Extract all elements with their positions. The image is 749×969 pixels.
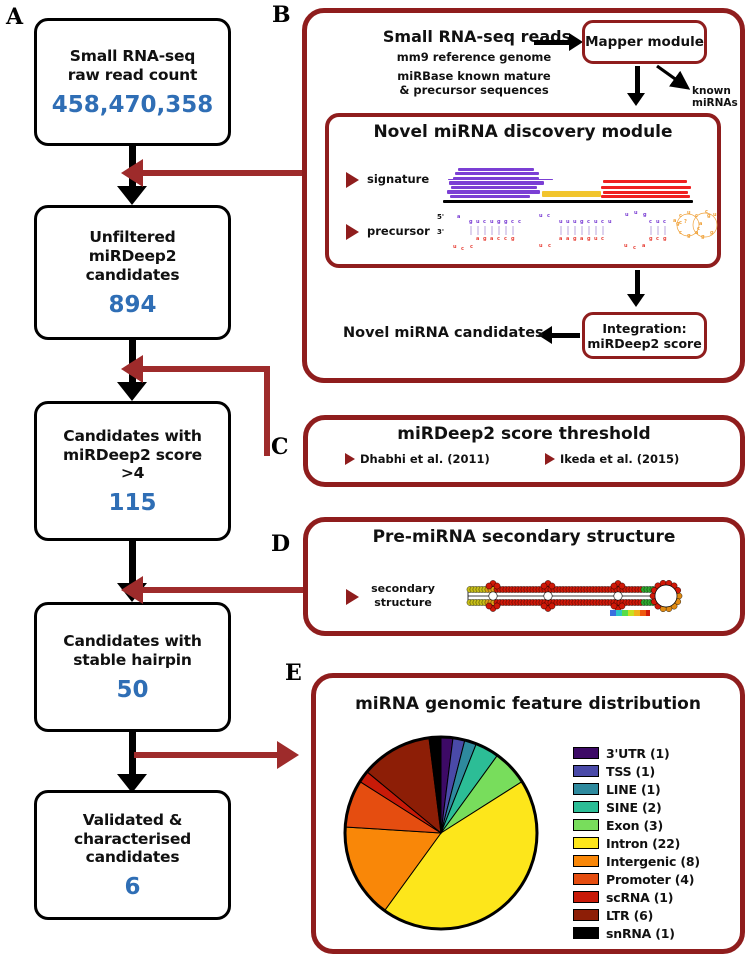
- svg-text:g: g: [511, 236, 515, 242]
- svg-text:c: c: [633, 245, 636, 251]
- structure-nucleotide: [619, 603, 625, 609]
- legend-label: Intron (22): [606, 836, 680, 851]
- panel-c-ref-2-label: Ikeda et al. (2015): [560, 452, 679, 466]
- structure-nucleotide: [611, 603, 617, 609]
- svg-text:c: c: [663, 219, 666, 225]
- svg-text:g: g: [573, 236, 577, 242]
- svg-text:g: g: [483, 236, 487, 242]
- connector-b-to-flow-arrow: [121, 159, 143, 187]
- legend-item: scRNA (1): [573, 889, 700, 905]
- panel-label-d: D: [271, 533, 290, 555]
- ref-bullet-triangle-icon: [545, 453, 555, 465]
- panel-c-ref-1-label: Dhabhi et al. (2011): [360, 452, 490, 466]
- flow-step-title: Candidates with stable hairpin: [63, 632, 201, 670]
- legend-swatch: [573, 837, 599, 849]
- structure-terminal-loop: [655, 585, 677, 607]
- flow-connector-arrow-2: [117, 382, 147, 401]
- structure-loop-center: [489, 592, 497, 600]
- svg-text:u: u: [687, 210, 691, 216]
- svg-text:c: c: [461, 246, 464, 252]
- connector-c-to-flow-arrow: [121, 355, 143, 383]
- structure-nucleotide: [494, 583, 500, 589]
- legend-swatch: [573, 891, 599, 903]
- flow-step-box-4: Candidates with stable hairpin 50: [34, 602, 231, 732]
- flow-step-count: 6: [124, 876, 140, 899]
- svg-text:u: u: [490, 219, 494, 225]
- chart-legend: 3'UTR (1)TSS (1)LINE (1)SINE (2)Exon (3)…: [573, 745, 700, 943]
- panel-c-title: miRDeep2 score threshold: [303, 424, 745, 444]
- svg-text:u: u: [594, 236, 598, 242]
- structure-nucleotide: [486, 583, 492, 589]
- svg-text:a: a: [476, 236, 479, 242]
- legend-swatch: [573, 783, 599, 795]
- svg-text:u: u: [624, 243, 628, 249]
- svg-text:?: ?: [684, 219, 687, 225]
- legend-item: LTR (6): [573, 907, 700, 923]
- legend-swatch: [573, 801, 599, 813]
- legend-swatch: [573, 909, 599, 921]
- known-mirnas-line1: known: [692, 85, 738, 97]
- svg-text:c: c: [504, 236, 507, 242]
- precursor-bullet-triangle-icon: [346, 224, 359, 240]
- panel-b-discovery-down-head: [627, 294, 645, 307]
- chart-title: miRNA genomic feature distribution: [311, 694, 745, 714]
- secondary-structure-bullet-triangle-icon: [346, 589, 359, 605]
- structure-nucleotide: [541, 583, 547, 589]
- panel-b-input-line1: mm9 reference genome: [350, 50, 598, 64]
- connector-flow-to-e-arrow: [277, 741, 299, 769]
- legend-swatch: [573, 747, 599, 759]
- flow-step-title: Validated & characterised candidates: [74, 811, 191, 868]
- legend-label: Promoter (4): [606, 872, 694, 887]
- flow-step-count: 115: [108, 492, 156, 515]
- integration-line1: Integration:: [602, 321, 686, 336]
- svg-text:a: a: [673, 218, 676, 224]
- svg-text:u: u: [625, 212, 629, 218]
- legend-item: TSS (1): [573, 763, 700, 779]
- structure-nucleotide: [541, 603, 547, 609]
- panel-c-ref-2: Ikeda et al. (2015): [545, 452, 679, 466]
- legend-item: Intron (22): [573, 835, 700, 851]
- integration-line2: miRDeep2 score: [587, 336, 701, 351]
- svg-text:g: g: [580, 219, 584, 225]
- svg-text:c: c: [587, 219, 590, 225]
- structure-nucleotide: [611, 583, 617, 589]
- flow-step-box-1: Small RNA-seq raw read count 458,470,358: [34, 18, 231, 146]
- svg-text:c: c: [518, 219, 521, 225]
- integration-box: Integration: miRDeep2 score: [582, 312, 707, 359]
- connector-c-to-flow-line: [143, 366, 270, 372]
- legend-item: Promoter (4): [573, 871, 700, 887]
- panel-b-input-line2: miRBase known mature: [350, 69, 598, 83]
- legend-item: Exon (3): [573, 817, 700, 833]
- svg-text:u: u: [634, 210, 638, 216]
- svg-text:c: c: [548, 243, 551, 249]
- connector-b-to-flow-line: [143, 170, 308, 176]
- svg-text:c: c: [601, 219, 604, 225]
- flow-step-title: Candidates with miRDeep2 score >4: [63, 427, 202, 484]
- svg-text:c: c: [547, 213, 550, 219]
- legend-swatch: [573, 819, 599, 831]
- legend-swatch: [573, 855, 599, 867]
- panel-d-item-line2: structure: [367, 596, 439, 610]
- svg-text:a: a: [457, 214, 460, 220]
- svg-text:c: c: [656, 236, 659, 242]
- flow-step-title: Small RNA-seq raw read count: [68, 47, 197, 85]
- connector-flow-to-e-line: [134, 752, 289, 758]
- discovery-module-title: Novel miRNA discovery module: [325, 122, 721, 142]
- mapper-module-box: Mapper module: [582, 20, 707, 64]
- flow-step-count: 894: [108, 294, 156, 317]
- structure-nucleotide: [549, 603, 555, 609]
- svg-text:u: u: [559, 219, 563, 225]
- flow-connector-arrow-1: [117, 186, 147, 205]
- secondary-structure-graphic: [460, 575, 710, 617]
- structure-nucleotide: [549, 583, 555, 589]
- legend-label: LINE (1): [606, 782, 661, 797]
- legend-item: snRNA (1): [573, 925, 700, 941]
- panel-b-mapper-down-head: [627, 93, 645, 106]
- legend-swatch: [573, 927, 599, 939]
- legend-label: LTR (6): [606, 908, 653, 923]
- svg-text:g: g: [469, 219, 473, 225]
- panel-d-item-line1: secondary: [367, 582, 439, 596]
- svg-text:c: c: [705, 209, 708, 215]
- legend-label: Exon (3): [606, 818, 663, 833]
- svg-text:g: g: [663, 236, 667, 242]
- connector-d-to-flow-line: [143, 587, 308, 593]
- svg-text:c: c: [511, 219, 514, 225]
- flow-step-title: Unfiltered miRDeep2 candidates: [86, 228, 180, 285]
- flow-step-box-3: Candidates with miRDeep2 score >4 115: [34, 401, 231, 541]
- panel-b-integration-out-line: [552, 333, 580, 338]
- precursor-structure-graphic: a guc ugg cc uc uuu gcu cu uug cuc ucc a…: [443, 208, 719, 258]
- flow-step-count: 458,470,358: [52, 94, 214, 117]
- svg-text:u: u: [539, 213, 543, 219]
- panel-d-title: Pre-miRNA secondary structure: [303, 527, 745, 547]
- legend-label: TSS (1): [606, 764, 655, 779]
- svg-text:g: g: [497, 219, 501, 225]
- novel-mirna-candidates-label: Novel miRNA candidates: [343, 325, 544, 341]
- svg-text:g: g: [587, 236, 591, 242]
- panel-c-ref-1: Dhabhi et al. (2011): [345, 452, 490, 466]
- svg-text:c: c: [483, 219, 486, 225]
- svg-text:c: c: [470, 244, 473, 250]
- known-mirnas-line2: miRNAs: [692, 97, 738, 109]
- svg-text:a: a: [490, 236, 493, 242]
- flow-step-box-2: Unfiltered miRDeep2 candidates 894: [34, 205, 231, 340]
- panel-b-input-line3: & precursor sequences: [350, 83, 598, 97]
- panel-b-arrow-to-mapper: [534, 40, 571, 45]
- precursor-label: precursor: [367, 224, 430, 238]
- structure-loop-center: [614, 592, 622, 600]
- svg-text:c: c: [497, 236, 500, 242]
- legend-label: SINE (2): [606, 800, 662, 815]
- panel-b-arrow-to-mapper-head: [569, 33, 583, 51]
- legend-label: Intergenic (8): [606, 854, 700, 869]
- svg-text:g: g: [643, 212, 647, 218]
- legend-item: Intergenic (8): [573, 853, 700, 869]
- svg-text:a: a: [580, 236, 583, 242]
- structure-nucleotide: [494, 603, 500, 609]
- svg-text:a: a: [566, 236, 569, 242]
- svg-text:u: u: [539, 243, 543, 249]
- legend-item: 3'UTR (1): [573, 745, 700, 761]
- panel-label-b: B: [272, 4, 291, 26]
- legend-swatch: [573, 873, 599, 885]
- signature-label: signature: [367, 172, 429, 186]
- svg-text:a: a: [642, 243, 645, 249]
- legend-label: 3'UTR (1): [606, 746, 670, 761]
- svg-text:c: c: [679, 220, 682, 226]
- svg-text:g: g: [504, 219, 508, 225]
- legend-swatch: [573, 765, 599, 777]
- signature-bullet-triangle-icon: [346, 172, 359, 188]
- svg-text:u: u: [566, 219, 570, 225]
- connector-d-to-flow-arrow: [121, 576, 143, 604]
- svg-text:u: u: [476, 219, 480, 225]
- connector-c-vertical: [264, 366, 270, 456]
- svg-text:u: u: [656, 219, 660, 225]
- genomic-feature-pie-chart: [341, 733, 541, 933]
- svg-text:c: c: [649, 219, 652, 225]
- panel-label-c: C: [271, 436, 289, 458]
- svg-text:u: u: [453, 244, 457, 250]
- mapper-module-label: Mapper module: [585, 34, 704, 50]
- structure-nucleotide: [619, 583, 625, 589]
- panel-label-a: A: [6, 6, 23, 28]
- flow-step-count: 50: [116, 679, 148, 702]
- svg-text:c: c: [601, 236, 604, 242]
- legend-item: LINE (1): [573, 781, 700, 797]
- ref-bullet-triangle-icon: [345, 453, 355, 465]
- structure-nucleotide: [486, 603, 492, 609]
- svg-text:u: u: [594, 219, 598, 225]
- legend-item: SINE (2): [573, 799, 700, 815]
- svg-text:a: a: [559, 236, 562, 242]
- flow-step-box-5: Validated & characterised candidates 6: [34, 790, 231, 920]
- legend-label: scRNA (1): [606, 890, 673, 905]
- svg-text:g: g: [649, 236, 653, 242]
- panel-label-e: E: [285, 662, 302, 684]
- legend-label: snRNA (1): [606, 926, 675, 941]
- structure-loop-center: [544, 592, 552, 600]
- svg-text:u: u: [573, 219, 577, 225]
- svg-text:u: u: [608, 219, 612, 225]
